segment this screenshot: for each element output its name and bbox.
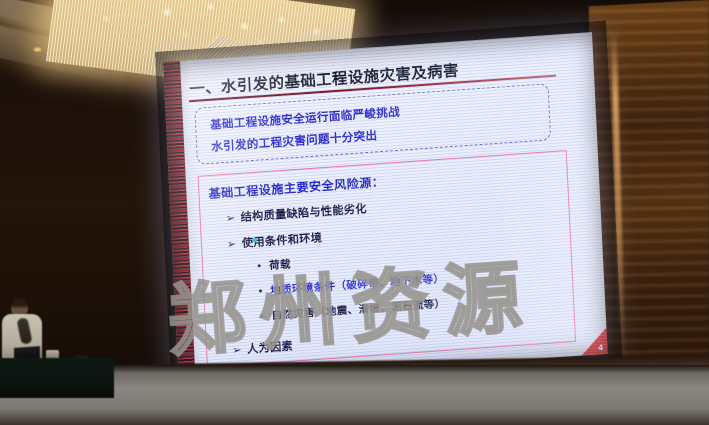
- callout-line-2: 水引发的工程灾害问题十分突出: [211, 127, 378, 155]
- projection-screen: 一、水引发的基础工程设施灾害及病害 基础工程设施安全运行面临严峻挑战 水引发的工…: [163, 32, 608, 384]
- dot-bullet-icon: •: [258, 310, 272, 323]
- slide-content: 一、水引发的基础工程设施灾害及病害 基础工程设施安全运行面临严峻挑战 水引发的工…: [180, 32, 608, 382]
- arrow-bullet-icon: ➢: [225, 211, 241, 225]
- screen-surface: 一、水引发的基础工程设施灾害及病害 基础工程设施安全运行面临严峻挑战 水引发的工…: [163, 32, 608, 384]
- conference-photo-scene: 一、水引发的基础工程设施灾害及病害 基础工程设施安全运行面临严峻挑战 水引发的工…: [0, 0, 709, 425]
- page-number-label: 4: [598, 343, 604, 352]
- dot-bullet-icon: •: [257, 285, 271, 298]
- list-item: •荷载: [256, 257, 291, 274]
- arrow-bullet-icon: ➢: [232, 343, 248, 357]
- list-item-label: 人为因素: [247, 340, 293, 356]
- presenter-table: [0, 358, 114, 398]
- list-item-label: 荷载: [269, 259, 291, 273]
- arrow-bullet-icon: ➢: [227, 237, 243, 251]
- teal-accent-dot: [253, 238, 257, 242]
- dot-bullet-icon: •: [256, 260, 270, 273]
